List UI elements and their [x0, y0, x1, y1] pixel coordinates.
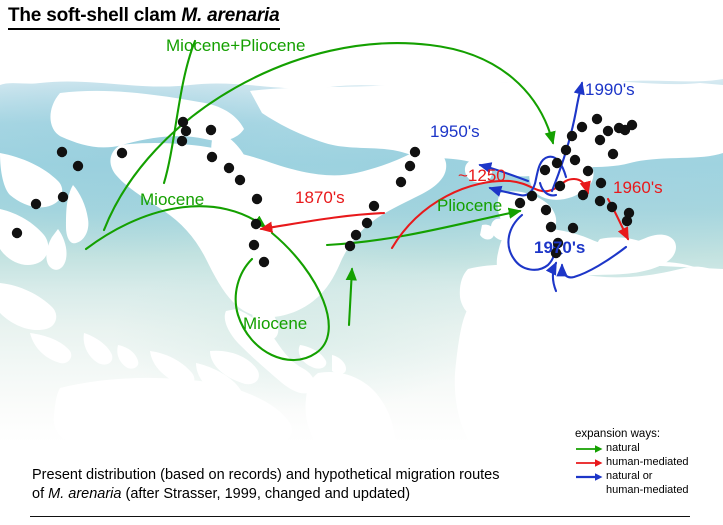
route-label-pliocene: Pliocene — [437, 196, 502, 216]
route-label-miocene: Miocene — [140, 190, 204, 210]
title-species: M. arenaria — [181, 5, 279, 26]
record-dot — [596, 178, 606, 188]
legend-arrow-icon — [575, 457, 605, 469]
route-label-miocene: Miocene — [243, 314, 307, 334]
route-label-1960s: 1960's — [613, 178, 663, 198]
record-dot — [527, 191, 537, 201]
title-prefix: The soft-shell clam — [8, 5, 181, 26]
record-dot — [31, 199, 41, 209]
record-dot — [567, 131, 577, 141]
caption-line-2: of M. arenaria (after Strasser, 1999, ch… — [32, 485, 499, 504]
legend-label: natural or — [606, 470, 652, 483]
legend-item: human-mediated — [575, 456, 689, 469]
record-dot — [552, 158, 562, 168]
bottom-divider — [30, 516, 690, 517]
route-label-1950s: 1950's — [430, 122, 480, 142]
record-dot — [561, 145, 571, 155]
record-dot — [603, 126, 613, 136]
legend-arrow-icon — [575, 443, 605, 455]
record-dot — [181, 126, 191, 136]
record-dot — [608, 149, 618, 159]
record-dot — [207, 152, 217, 162]
record-dot — [607, 202, 617, 212]
record-dot — [351, 230, 361, 240]
record-dot — [396, 177, 406, 187]
record-dot — [540, 165, 550, 175]
record-dot — [73, 161, 83, 171]
legend-arrow-icon — [575, 471, 605, 483]
record-dot — [546, 222, 556, 232]
record-dot — [577, 122, 587, 132]
route-label-1870s: 1870's — [295, 188, 345, 208]
legend-rows: naturalhuman-mediatednatural orhuman-med… — [575, 442, 689, 497]
record-dot — [578, 190, 588, 200]
record-dot — [251, 219, 261, 229]
page-title: The soft-shell clam M. arenaria — [8, 5, 280, 30]
legend-label: human-mediated — [606, 456, 689, 469]
world-map: Miocene+PlioceneMioceneMiocenePliocene18… — [0, 33, 723, 443]
record-dot — [410, 147, 420, 157]
record-dot — [595, 135, 605, 145]
record-dot — [624, 208, 634, 218]
record-dot — [206, 125, 216, 135]
caption-line2-prefix: of — [32, 486, 48, 502]
route-label-miocene+pliocene: Miocene+Pliocene — [166, 36, 305, 56]
record-dot — [177, 136, 187, 146]
route-label-1250: ~1250 — [458, 166, 506, 186]
record-dot — [362, 218, 372, 228]
record-dot — [249, 240, 259, 250]
caption-line-1: Present distribution (based on records) … — [32, 466, 499, 485]
caption-species: M. arenaria — [48, 486, 121, 502]
record-dot — [117, 148, 127, 158]
route-label-1990s: 1990's — [585, 80, 635, 100]
record-dot — [627, 120, 637, 130]
record-dot — [592, 114, 602, 124]
record-dot — [259, 257, 269, 267]
record-dot — [57, 147, 67, 157]
legend-item: natural or — [575, 470, 689, 483]
record-dot — [235, 175, 245, 185]
record-dot — [555, 181, 565, 191]
legend-label-continued: human-mediated — [606, 484, 689, 497]
route-label-1970s: 1970's — [534, 238, 585, 258]
record-dot — [178, 117, 188, 127]
record-dot — [224, 163, 234, 173]
record-dot — [405, 161, 415, 171]
figure-caption: Present distribution (based on records) … — [32, 466, 499, 504]
record-dot — [541, 205, 551, 215]
record-dot — [568, 223, 578, 233]
legend: expansion ways: naturalhuman-mediatednat… — [575, 428, 689, 497]
record-dot — [515, 198, 525, 208]
record-dot — [252, 194, 262, 204]
legend-label: natural — [606, 442, 640, 455]
record-dot — [345, 241, 355, 251]
record-dot — [570, 155, 580, 165]
record-dot — [12, 228, 22, 238]
legend-item: natural — [575, 442, 689, 455]
record-dot — [369, 201, 379, 211]
record-dot — [58, 192, 68, 202]
caption-line2-suffix: (after Strasser, 1999, changed and updat… — [121, 486, 410, 502]
record-dot — [583, 166, 593, 176]
legend-heading: expansion ways: — [575, 428, 689, 440]
record-dot — [595, 196, 605, 206]
record-dot — [614, 123, 624, 133]
figure-root: The soft-shell clam M. arenaria — [0, 0, 723, 525]
